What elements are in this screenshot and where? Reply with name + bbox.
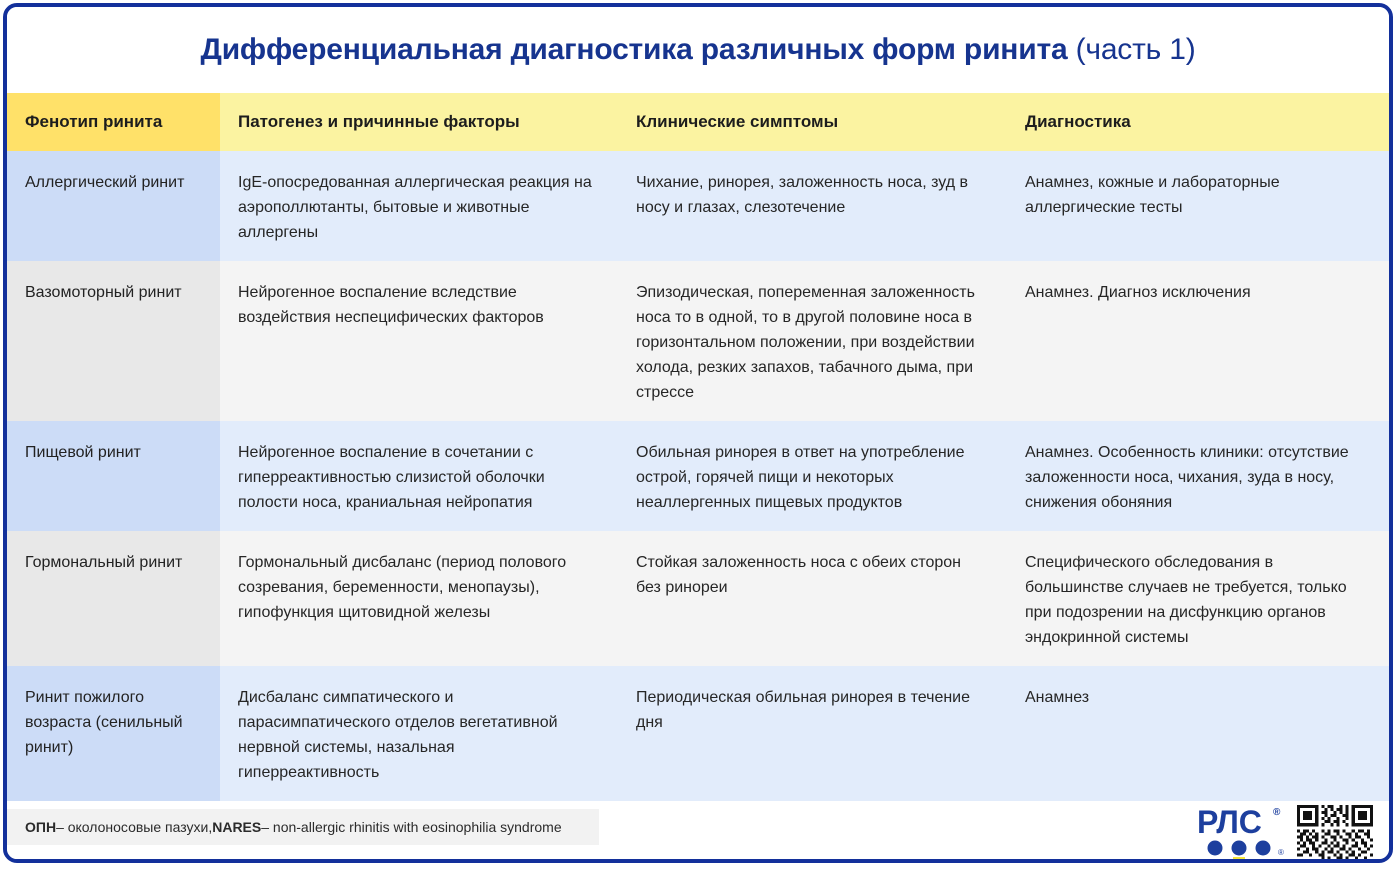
poster-frame: Дифференциальная диагностика различных ф… xyxy=(3,3,1393,863)
abbreviations-note: ОПН – околоносовые пазухи, NARES – non-a… xyxy=(7,809,599,845)
title-bar: Дифференциальная диагностика различных ф… xyxy=(7,7,1389,93)
registered-mark-icon: ® xyxy=(1273,807,1280,818)
qr-code-icon xyxy=(1297,805,1373,863)
cell-pathogenesis: Нейрогенное воспаление в сочетании с гип… xyxy=(220,421,618,531)
cell-phenotype: Вазомоторный ринит xyxy=(7,261,220,421)
cell-symptoms: Чихание, ринорея, заложенность носа, зуд… xyxy=(618,151,1007,261)
cell-pathogenesis: IgE-опосредованная аллергическая реакция… xyxy=(220,151,618,261)
column-header-diagnostics: Диагностика xyxy=(1007,93,1389,151)
header-row: Фенотип ринита Патогенез и причинные фак… xyxy=(7,93,1389,151)
table-body: Аллергический ринит IgE-опосредованная а… xyxy=(7,151,1389,801)
cell-diagnostics: Анамнез. Особенность клиники: отсутствие… xyxy=(1007,421,1389,531)
cell-phenotype: Гормональный ринит xyxy=(7,531,220,666)
cell-phenotype: Аллергический ринит xyxy=(7,151,220,261)
column-header-pathogenesis: Патогенез и причинные факторы xyxy=(220,93,618,151)
cell-diagnostics: Анамнез, кожные и лабораторные аллергиче… xyxy=(1007,151,1389,261)
cell-pathogenesis: Гормональный дисбаланс (период полового … xyxy=(220,531,618,666)
page-title-suffix: (часть 1) xyxy=(1076,33,1196,66)
cell-pathogenesis: Дисбаланс симпатического и парасимпатиче… xyxy=(220,666,618,801)
page-title: Дифференциальная диагностика различных ф… xyxy=(201,33,1196,67)
rls-emblem-icon xyxy=(1195,840,1287,863)
column-header-phenotype: Фенотип ринита xyxy=(7,93,220,151)
brand-block: РЛС ® ® xyxy=(1195,805,1373,863)
cell-symptoms: Эпизодическая, попеременная заложенность… xyxy=(618,261,1007,421)
abbr-opn-text: – околоносовые пазухи, xyxy=(56,819,212,835)
table-row: Ринит пожилого возраста (сенильный ринит… xyxy=(7,666,1389,801)
rhinitis-differential-table: Фенотип ринита Патогенез и причинные фак… xyxy=(7,93,1389,801)
abbr-nares-text: – non-allergic rhinitis with eosinophili… xyxy=(261,819,561,835)
table-row: Гормональный ринит Гормональный дисбалан… xyxy=(7,531,1389,666)
cell-diagnostics: Специфического обследования в большинств… xyxy=(1007,531,1389,666)
table-row: Пищевой ринит Нейрогенное воспаление в с… xyxy=(7,421,1389,531)
cell-diagnostics: Анамнез. Диагноз исключения xyxy=(1007,261,1389,421)
cell-diagnostics: Анамнез xyxy=(1007,666,1389,801)
abbr-nares: NARES xyxy=(212,819,261,835)
abbr-opn: ОПН xyxy=(25,819,56,835)
cell-phenotype: Пищевой ринит xyxy=(7,421,220,531)
cell-phenotype: Ринит пожилого возраста (сенильный ринит… xyxy=(7,666,220,801)
cell-pathogenesis: Нейрогенное воспаление вследствие воздей… xyxy=(220,261,618,421)
cell-symptoms: Стойкая заложенность носа с обеих сторон… xyxy=(618,531,1007,666)
registered-mark-small-icon: ® xyxy=(1278,848,1284,857)
column-header-symptoms: Клинические симптомы xyxy=(618,93,1007,151)
page-title-main: Дифференциальная диагностика различных ф… xyxy=(201,33,1068,66)
cell-symptoms: Обильная ринорея в ответ на употребление… xyxy=(618,421,1007,531)
rls-wordmark: РЛС xyxy=(1197,806,1262,838)
table-header: Фенотип ринита Патогенез и причинные фак… xyxy=(7,93,1389,151)
table-row: Вазомоторный ринит Нейрогенное воспалени… xyxy=(7,261,1389,421)
rls-logo: РЛС ® ® xyxy=(1195,806,1287,863)
footer: ОПН – околоносовые пазухи, NARES – non-a… xyxy=(7,801,1389,863)
cell-symptoms: Периодическая обильная ринорея в течение… xyxy=(618,666,1007,801)
table-row: Аллергический ринит IgE-опосредованная а… xyxy=(7,151,1389,261)
